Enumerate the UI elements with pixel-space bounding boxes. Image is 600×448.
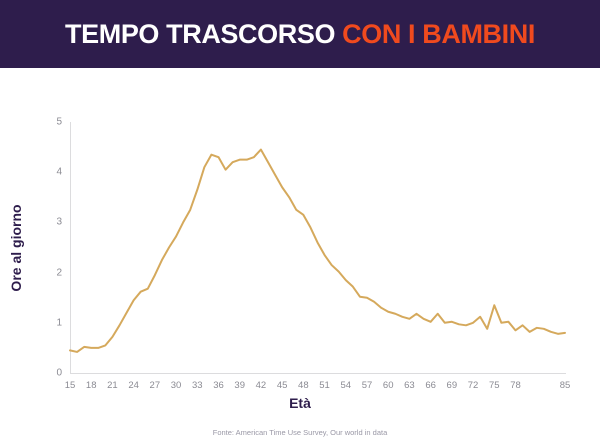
x-tick-label: 72: [468, 380, 479, 391]
x-tick-label: 21: [107, 380, 118, 391]
y-tick-label: 1: [56, 317, 62, 328]
x-tick-label: 42: [256, 380, 267, 391]
x-tick-label: 85: [560, 380, 571, 391]
y-tick-label: 2: [56, 267, 62, 278]
x-tick-label: 24: [128, 380, 139, 391]
x-axis-line: [70, 373, 566, 374]
x-tick-label: 69: [447, 380, 458, 391]
x-tick-label: 39: [234, 380, 245, 391]
x-tick-label: 57: [362, 380, 373, 391]
x-tick-label: 36: [213, 380, 224, 391]
x-tick-label: 63: [404, 380, 415, 391]
plot-area: 012345 151821242730333639424548515457606…: [70, 122, 565, 373]
y-axis-label: Ore al giorno: [8, 204, 24, 291]
chart-page: TEMPO TRASCORSO CON I BAMBINI Ore al gio…: [0, 0, 600, 448]
title-orange-part: CON I BAMBINI: [342, 19, 535, 49]
x-tick-label: 75: [489, 380, 500, 391]
x-tick-label: 78: [510, 380, 521, 391]
title-white-part: TEMPO TRASCORSO: [65, 19, 342, 49]
x-tick-label: 15: [65, 380, 76, 391]
x-tick-label: 45: [277, 380, 288, 391]
x-tick-label: 27: [150, 380, 161, 391]
y-tick-label: 3: [56, 217, 62, 228]
x-tick-label: 60: [383, 380, 394, 391]
series-line: [70, 150, 565, 352]
y-tick-label: 4: [56, 167, 62, 178]
y-tick-label: 5: [56, 117, 62, 128]
chart-card: Ore al giorno 012345 1518212427303336394…: [0, 68, 600, 448]
title-banner: TEMPO TRASCORSO CON I BAMBINI: [0, 0, 600, 68]
page-title: TEMPO TRASCORSO CON I BAMBINI: [65, 21, 535, 48]
x-tick-label: 33: [192, 380, 203, 391]
x-tick-label: 66: [425, 380, 436, 391]
source-note: Fonte: American Time Use Survey, Our wor…: [0, 428, 600, 437]
x-tick-label: 18: [86, 380, 97, 391]
line-series: [70, 122, 565, 373]
x-axis-label: Età: [0, 395, 600, 411]
x-tick-label: 54: [340, 380, 351, 391]
x-tick-label: 48: [298, 380, 309, 391]
x-tick-label: 30: [171, 380, 182, 391]
y-tick-label: 0: [56, 368, 62, 379]
x-tick-label: 51: [319, 380, 330, 391]
